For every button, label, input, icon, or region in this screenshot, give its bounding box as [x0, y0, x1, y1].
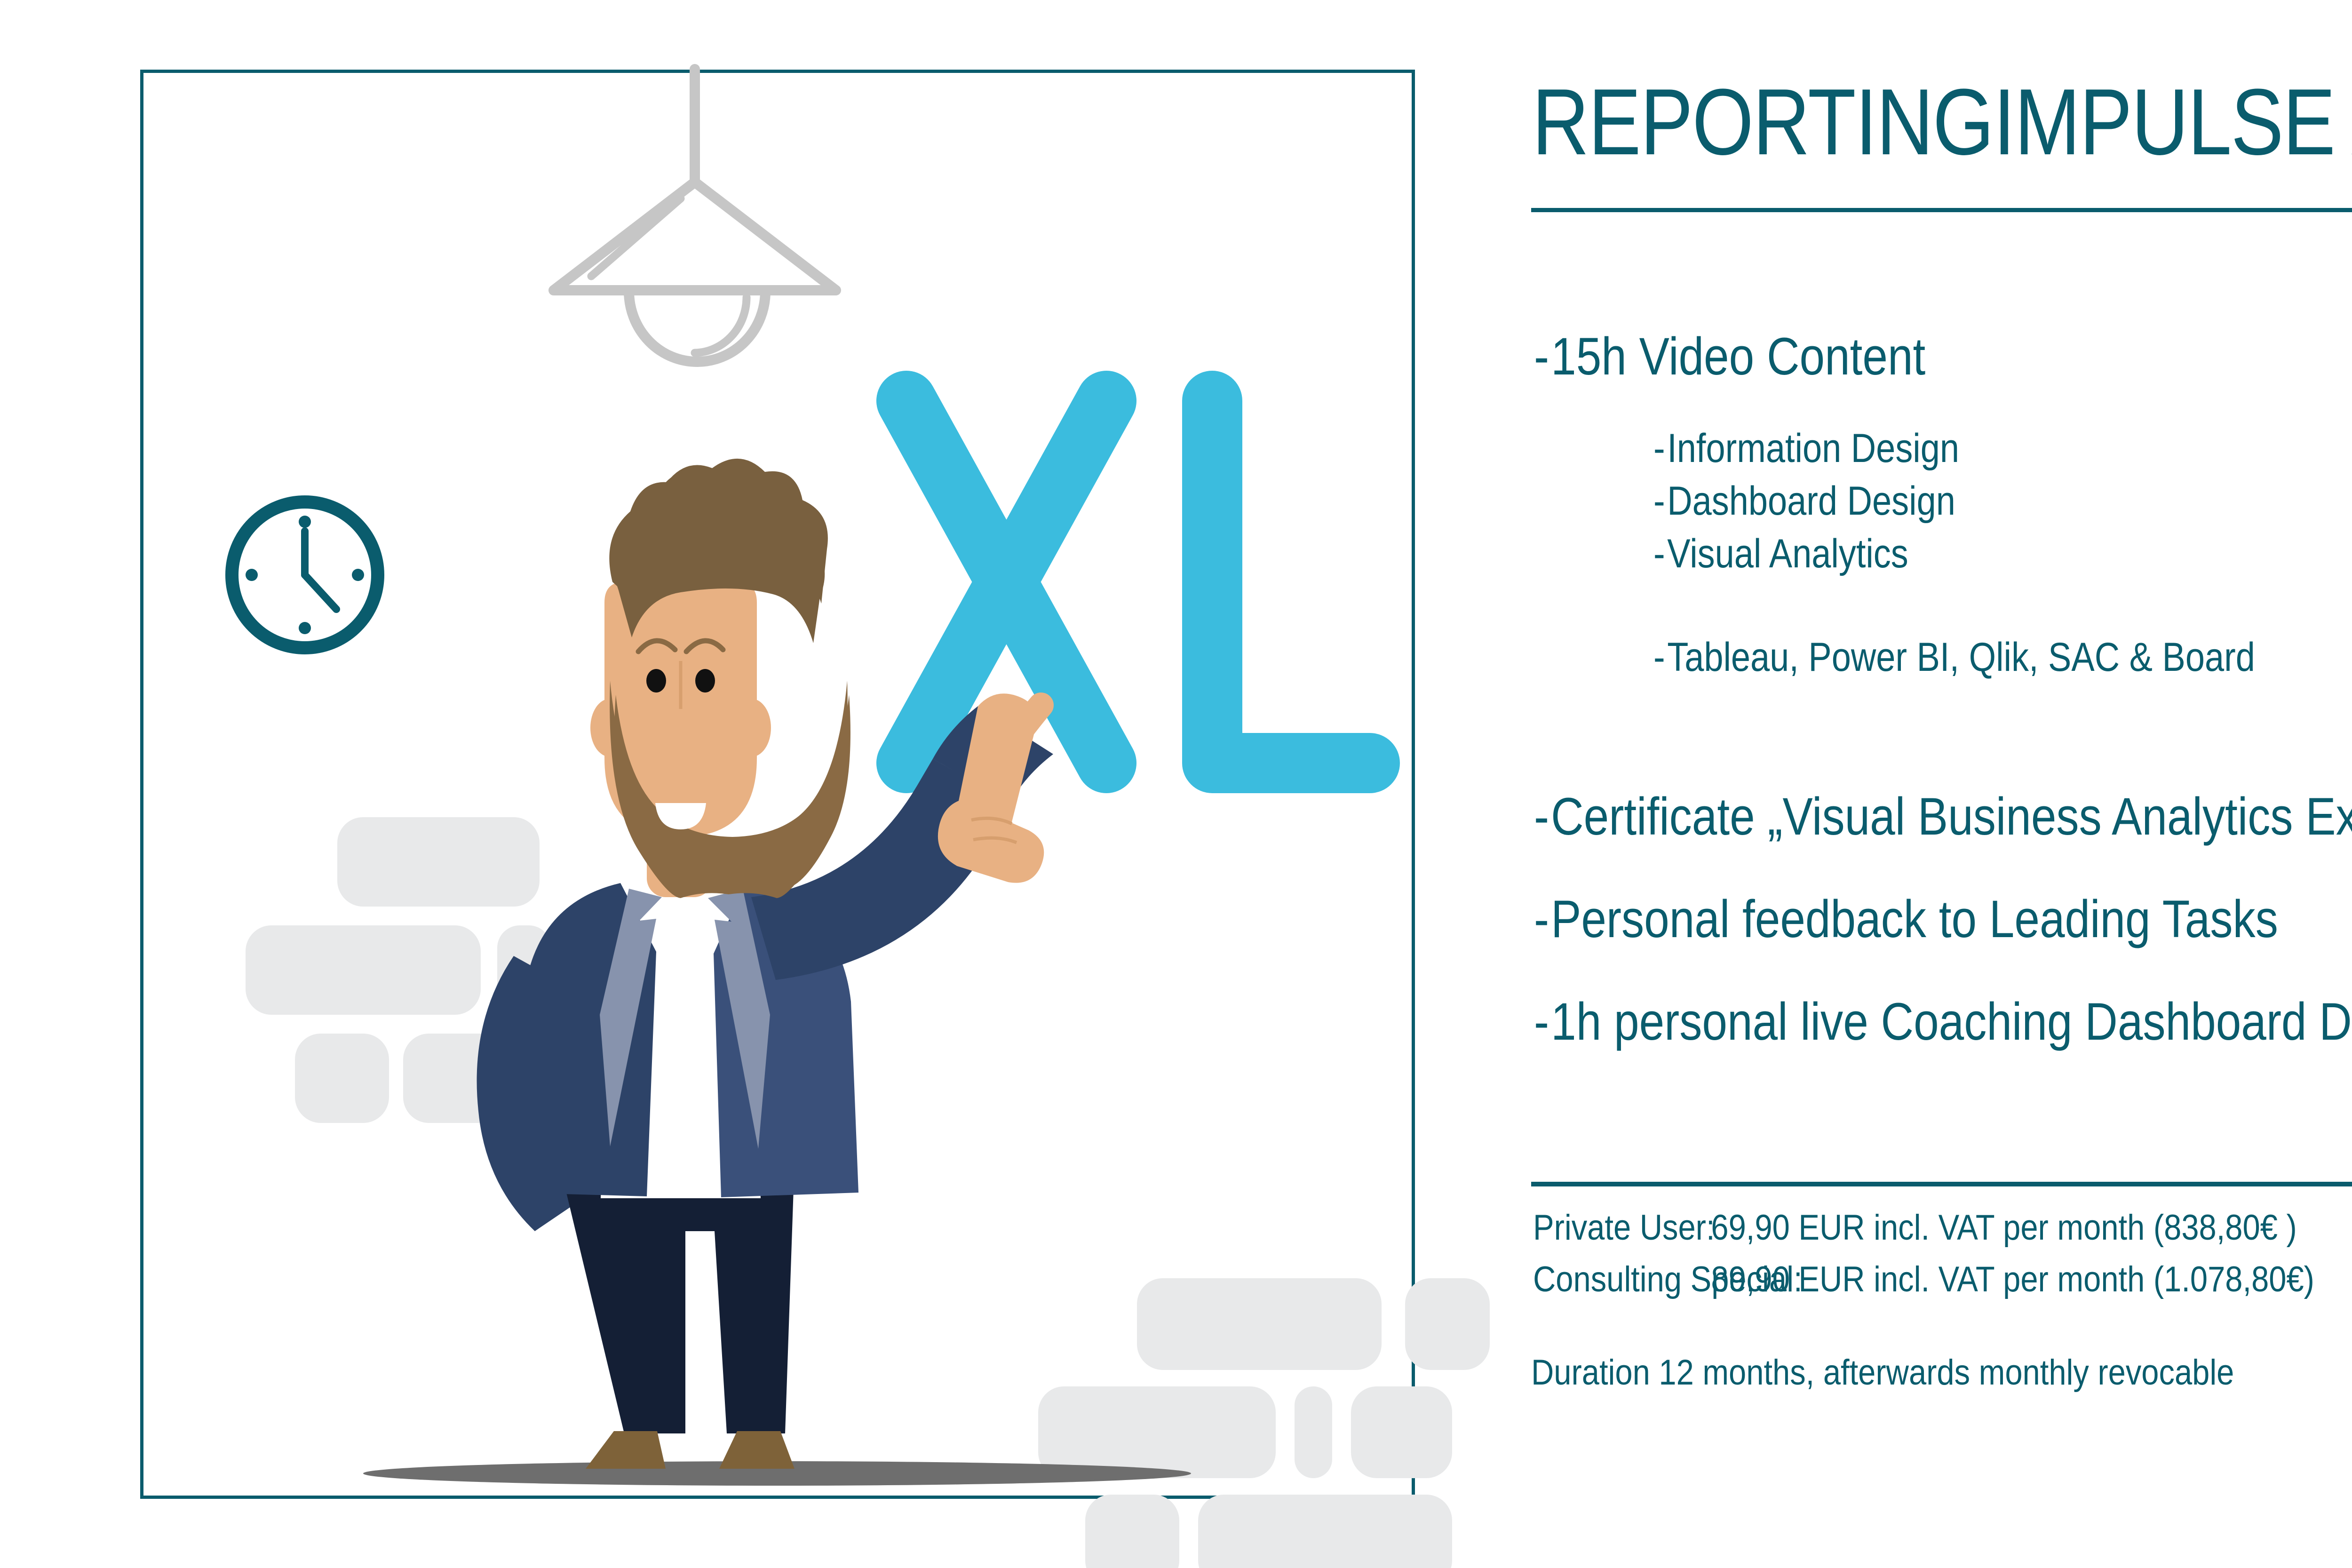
bullet-dash: -: [1534, 330, 1551, 383]
wall-clock-icon: [232, 502, 378, 648]
illustration-frame: [140, 70, 1415, 1499]
title-underline: [1531, 208, 2352, 212]
hanging-lamp-icon: [554, 69, 836, 362]
illustration-canvas: [143, 73, 1412, 1496]
illustration-graphic: [140, 69, 1422, 1506]
duration-note: Duration 12 months, afterwards monthly r…: [1531, 1355, 2234, 1391]
pricing-value: 69,90 EUR incl. VAT per month (838,80€ ): [1711, 1210, 2296, 1246]
feature-sub-dashboard-design: -Dashboard Design: [1653, 481, 1955, 521]
pricing-divider: [1531, 1182, 2352, 1186]
bullet-dash: -: [1534, 995, 1551, 1048]
bullet-dash: -: [1653, 637, 1667, 677]
feature-sub-visual-analytics: -Visual Analytics: [1653, 533, 1908, 574]
feature-label: Tableau, Power BI, Qlik, SAC & Board: [1667, 635, 2255, 680]
feature-label: Certificate „Visual Business Analytics E…: [1551, 787, 2352, 846]
bullet-dash: -: [1653, 533, 1667, 574]
page-title: REPORTINGIMPULSE ACADEMY: [1532, 75, 2352, 169]
feature-personal-feedback: -Personal feedback to Leading Tasks: [1534, 893, 2278, 946]
feature-sub-information-design: -Information Design: [1653, 428, 1959, 469]
bullet-dash: -: [1534, 893, 1551, 946]
pricing-row-consulting-special: Consulting Special:89,90 EUR incl. VAT p…: [1533, 1262, 2314, 1297]
feature-label: Personal feedback to Leading Tasks: [1551, 890, 2278, 948]
slide-root: REPORTINGIMPULSE ACADEMY -15h Video Cont…: [0, 0, 2352, 1568]
feature-certificate: -Certificate „Visual Business Analytics …: [1534, 790, 2352, 843]
pricing-row-private-user: Private User:69,90 EUR incl. VAT per mon…: [1533, 1210, 2297, 1246]
feature-label: Dashboard Design: [1667, 478, 1955, 524]
feature-sub-tools: -Tableau, Power BI, Qlik, SAC & Board: [1653, 637, 2255, 677]
feature-live-coaching: -1h personal live Coaching Dashboard Des…: [1534, 995, 2352, 1048]
feature-label: Information Design: [1667, 426, 1959, 471]
feature-label: 1h personal live Coaching Dashboard Desi…: [1551, 992, 2352, 1051]
bullet-dash: -: [1653, 481, 1667, 521]
content-column: REPORTINGIMPULSE ACADEMY -15h Video Cont…: [1530, 0, 2352, 1568]
feature-label: Visual Analytics: [1667, 531, 1908, 576]
pricing-label: Private User:: [1533, 1210, 1711, 1246]
pricing-value: 89,90 EUR incl. VAT per month (1.078,80€…: [1711, 1262, 2314, 1297]
feature-video-content: -15h Video Content: [1534, 330, 1925, 383]
bullet-dash: -: [1653, 428, 1667, 469]
pricing-label: Consulting Special:: [1533, 1262, 1711, 1297]
bullet-dash: -: [1534, 790, 1551, 843]
feature-label: 15h Video Content: [1551, 327, 1925, 386]
